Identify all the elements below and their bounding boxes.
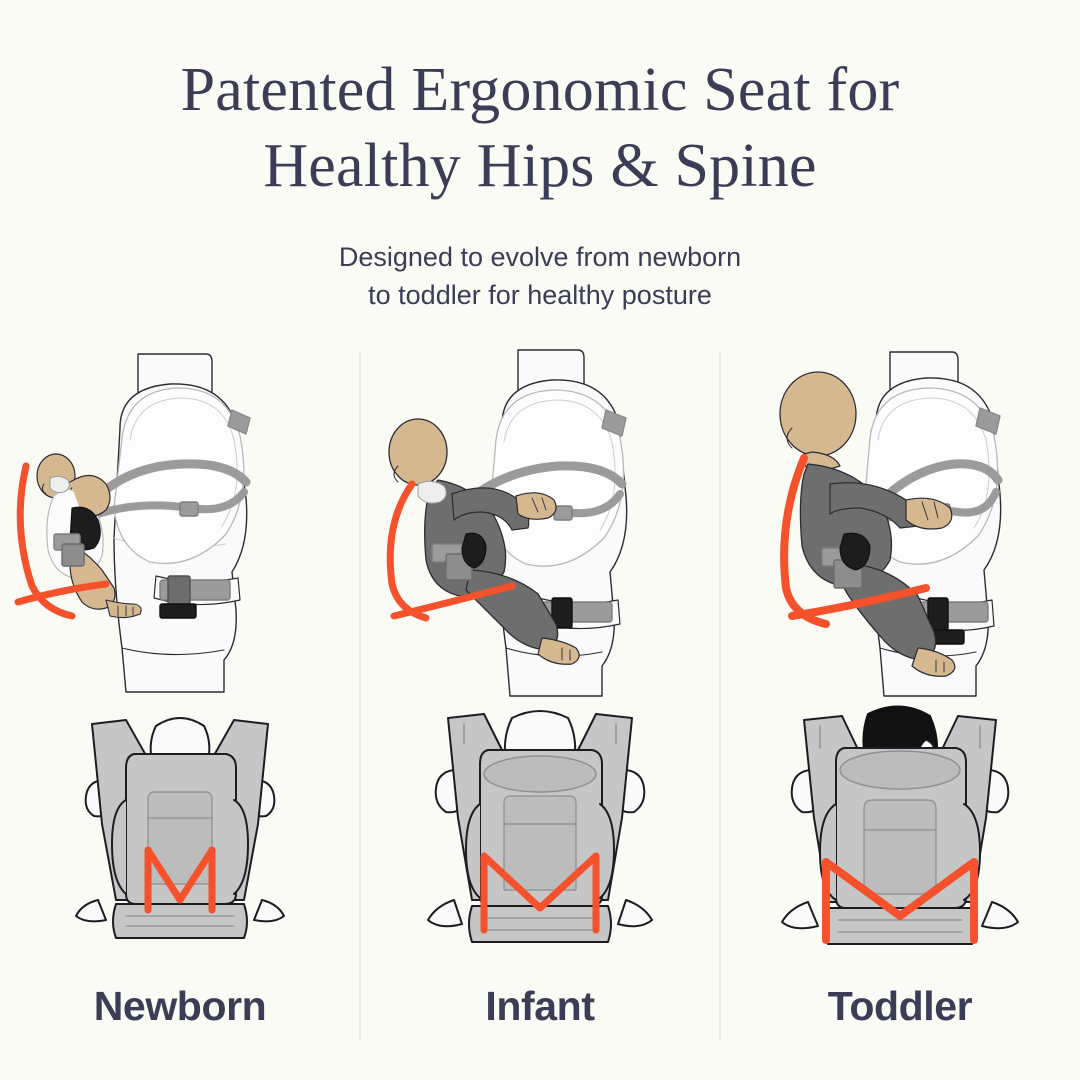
infant-front-view-illustration — [390, 704, 690, 959]
newborn-front-view-illustration — [30, 704, 330, 959]
toddler-side-view-illustration — [730, 348, 1070, 698]
stage-column-infant: Infant — [360, 340, 720, 1040]
header: Patented Ergonomic Seat for Healthy Hips… — [0, 0, 1080, 314]
stage-columns: Newborn — [0, 340, 1080, 1040]
toddler-front-view-illustration — [750, 704, 1050, 959]
page-title-line-2: Healthy Hips & Spine — [263, 132, 816, 200]
page-subtitle-line-1: Designed to evolve from newborn — [339, 242, 741, 272]
page-subtitle-line-2: to toddler for healthy posture — [368, 280, 712, 310]
infant-side-view-illustration — [370, 348, 710, 698]
stage-column-toddler: Toddler — [720, 340, 1080, 1040]
infographic-page: Patented Ergonomic Seat for Healthy Hips… — [0, 0, 1080, 1080]
page-subtitle: Designed to evolve from newborn to toddl… — [0, 238, 1080, 314]
page-title-line-1: Patented Ergonomic Seat for — [181, 56, 900, 124]
stage-column-newborn: Newborn — [0, 340, 360, 1040]
stage-label-newborn: Newborn — [0, 983, 360, 1030]
stage-label-infant: Infant — [360, 983, 720, 1030]
page-title: Patented Ergonomic Seat for Healthy Hips… — [0, 52, 1080, 204]
newborn-side-view-illustration — [10, 348, 350, 698]
stage-label-toddler: Toddler — [720, 983, 1080, 1030]
